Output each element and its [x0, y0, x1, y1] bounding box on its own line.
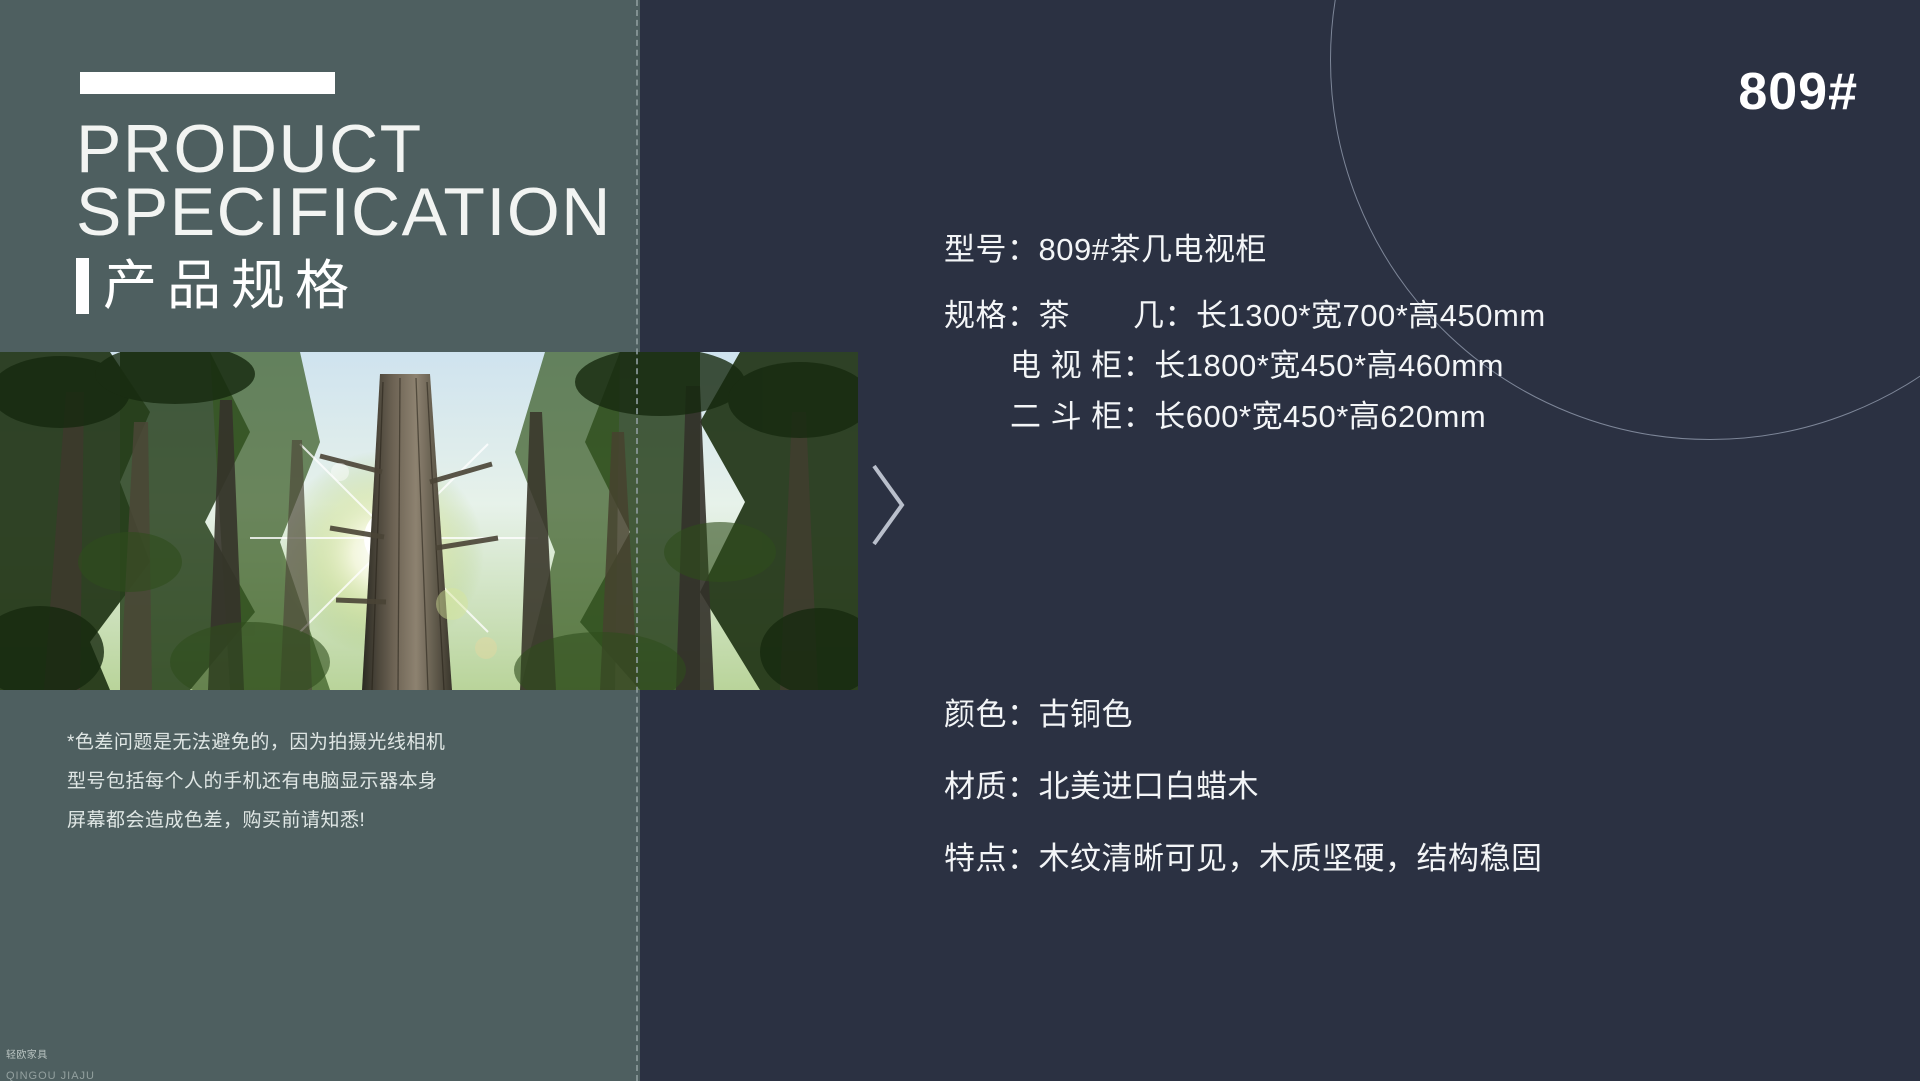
- model-badge: 809#: [1738, 62, 1858, 122]
- forest-canopy-image: [0, 352, 858, 690]
- slide-canvas: PRODUCT SPECIFICATION 产品规格: [0, 0, 1920, 1081]
- attribute-feature: 特点：木纹清晰可见，木质坚硬，结构稳固: [944, 834, 1543, 884]
- title-rule: [80, 72, 335, 94]
- dashed-divider: [636, 0, 638, 1081]
- product-photo: [0, 352, 858, 690]
- spec-row-2: 电 视 柜：长1800*宽450*高460mm: [944, 341, 1546, 391]
- specification-block: 型号：809#茶几电视柜 规格：茶 几：长1300*宽700*高450mm 电 …: [944, 225, 1546, 442]
- attributes-block: 颜色：古铜色 材质：北美进口白蜡木 特点：木纹清晰可见，木质坚硬，结构稳固: [944, 690, 1543, 885]
- watermark-brand: 轻欧家具: [6, 1046, 48, 1061]
- watermark-subtext: QINGOU JIAJU: [6, 1070, 95, 1081]
- page-title-chinese: 产品规格: [103, 259, 359, 313]
- chevron-right-icon: [868, 460, 910, 550]
- page-title-chinese-wrap: 产品规格: [76, 258, 359, 314]
- disclaimer-line-1: *色差问题是无法避免的，因为拍摄光线相机: [67, 724, 527, 763]
- left-footer-panel: [0, 845, 640, 1081]
- spec-row-1: 规格：茶 几：长1300*宽700*高450mm: [944, 291, 1546, 341]
- color-disclaimer: *色差问题是无法避免的，因为拍摄光线相机 型号包括每个人的手机还有电脑显示器本身…: [67, 724, 527, 841]
- disclaimer-line-2: 型号包括每个人的手机还有电脑显示器本身: [67, 763, 527, 802]
- attribute-color: 颜色：古铜色: [944, 690, 1543, 740]
- spec-model-line: 型号：809#茶几电视柜: [944, 225, 1546, 275]
- title-line-2: SPECIFICATION: [76, 181, 612, 244]
- spec-row-3: 二 斗 柜：长600*宽450*高620mm: [944, 392, 1546, 442]
- attribute-material: 材质：北美进口白蜡木: [944, 762, 1543, 812]
- title-accent-bar: [76, 258, 89, 314]
- disclaimer-line-3: 屏幕都会造成色差，购买前请知悉!: [67, 802, 527, 841]
- page-title-english: PRODUCT SPECIFICATION: [76, 118, 612, 243]
